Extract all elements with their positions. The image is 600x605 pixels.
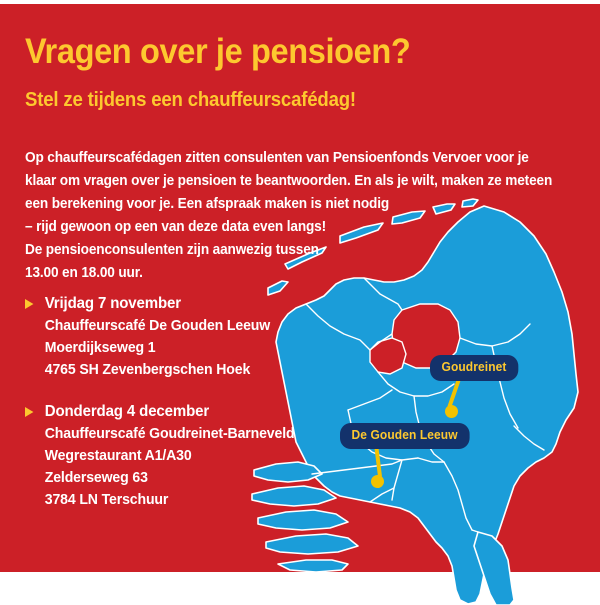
intro-line: De pensioenconsulenten zijn aanwezig tus… — [25, 239, 533, 262]
page-title: Vragen over je pensioen? — [25, 33, 410, 71]
event-address: Chauffeurscafé De Gouden Leeuw Moerdijks… — [25, 315, 335, 381]
intro-line: klaar om vragen over je pensioen te bean… — [25, 170, 533, 193]
event-address-line: 4765 SH Zevenbergschen Hoek — [45, 359, 335, 381]
event-address: Chauffeurscafé Goudreinet-Barneveld Wegr… — [25, 423, 335, 511]
event-date: Donderdag 4 december — [25, 401, 335, 423]
triangle-bullet-icon — [25, 407, 33, 417]
event-entry: Vrijdag 7 november Chauffeurscafé De Gou… — [25, 293, 355, 381]
map-pin-dot-icon — [371, 475, 384, 488]
event-address-line: Moerdijkseweg 1 — [45, 337, 335, 359]
intro-line: een berekening voor je. Een afspraak mak… — [25, 193, 533, 216]
event-entry: Donderdag 4 december Chauffeurscafé Goud… — [25, 401, 355, 511]
event-address-line: Chauffeurscafé Goudreinet-Barneveld — [45, 423, 335, 445]
intro-paragraph: Op chauffeurscafédagen zitten consulente… — [25, 147, 533, 285]
map-pin-label: De Gouden Leeuw — [340, 423, 469, 449]
event-date: Vrijdag 7 november — [25, 293, 335, 315]
intro-line: 13.00 en 18.00 uur. — [25, 262, 533, 285]
event-date-label: Vrijdag 7 november — [45, 295, 181, 312]
page-subtitle: Stel ze tijdens een chauffeurscafédag! — [25, 88, 356, 112]
event-address-line: 3784 LN Terschuur — [45, 489, 335, 511]
event-address-line: Zelderseweg 63 — [45, 467, 335, 489]
event-address-line: Wegrestaurant A1/A30 — [45, 445, 335, 467]
map-pin-label: Goudreinet — [430, 355, 518, 381]
poster-root: Vragen over je pensioen? Stel ze tijdens… — [0, 0, 600, 605]
triangle-bullet-icon — [25, 299, 33, 309]
event-address-line: Chauffeurscafé De Gouden Leeuw — [45, 315, 335, 337]
event-date-label: Donderdag 4 december — [45, 403, 209, 420]
intro-line: – rijd gewoon op een van deze data even … — [25, 216, 533, 239]
intro-line: Op chauffeurscafédagen zitten consulente… — [25, 147, 533, 170]
map-pin-dot-icon — [445, 405, 458, 418]
